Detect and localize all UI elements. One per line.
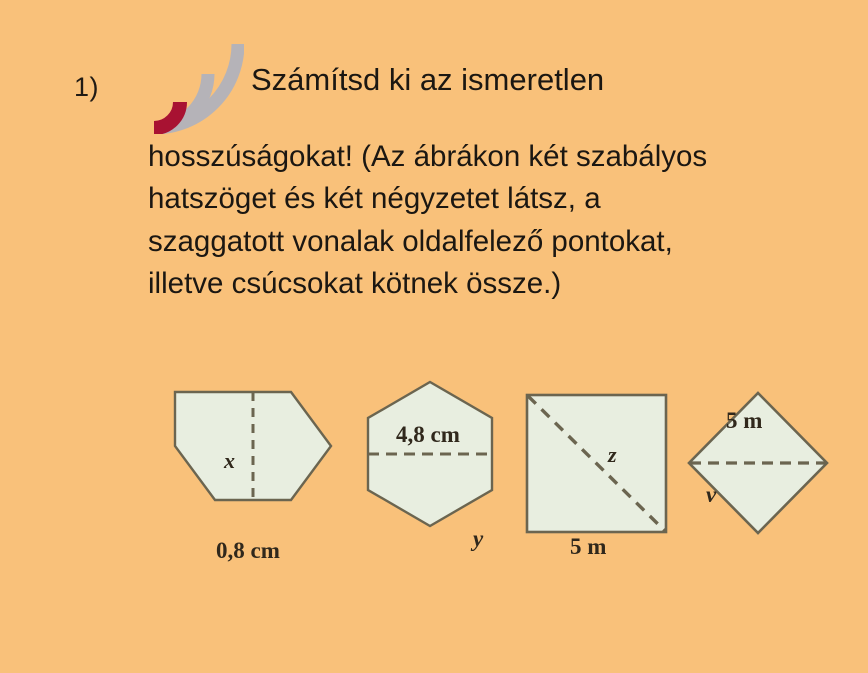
label-hexagon2-diagonal: 4,8 cm [396, 422, 460, 448]
task-body-line: hatszöget és két négyzetet látsz, a [148, 178, 838, 220]
figure-hexagon-flat-top: x 0,8 cm [170, 360, 338, 540]
label-square-side: 5 m [570, 534, 606, 560]
label-unknown-v: v [706, 482, 716, 508]
label-diamond-diagonal: 5 m [726, 408, 762, 434]
slide-canvas: 1) Számítsd ki az ismeretlen hosszúságok… [0, 0, 868, 673]
figure-hexagon-pointy-top: 4,8 cm y [356, 360, 508, 550]
label-hexagon1-side: 0,8 cm [216, 538, 280, 564]
task-body-line: illetve csúcsokat kötnek össze.) [148, 263, 838, 305]
task-body-text: hosszúságokat! (Az ábrákon két szabályos… [148, 136, 838, 306]
label-unknown-z: z [608, 442, 617, 468]
task-body-line: hosszúságokat! (Az ábrákon két szabályos [148, 136, 838, 178]
task-body-line: szaggatott vonalak oldalfelező pontokat, [148, 221, 838, 263]
page-title: Számítsd ki az ismeretlen [251, 62, 604, 98]
task-number: 1) [74, 72, 99, 103]
wifi-arcs-icon [148, 38, 244, 134]
label-unknown-x: x [224, 448, 235, 474]
figure-diamond: 5 m v [686, 360, 836, 545]
label-unknown-y: y [473, 526, 483, 552]
figures-row: x 0,8 cm 4,8 cm y z 5 m [0, 360, 868, 585]
figure-square: z 5 m [524, 360, 674, 540]
